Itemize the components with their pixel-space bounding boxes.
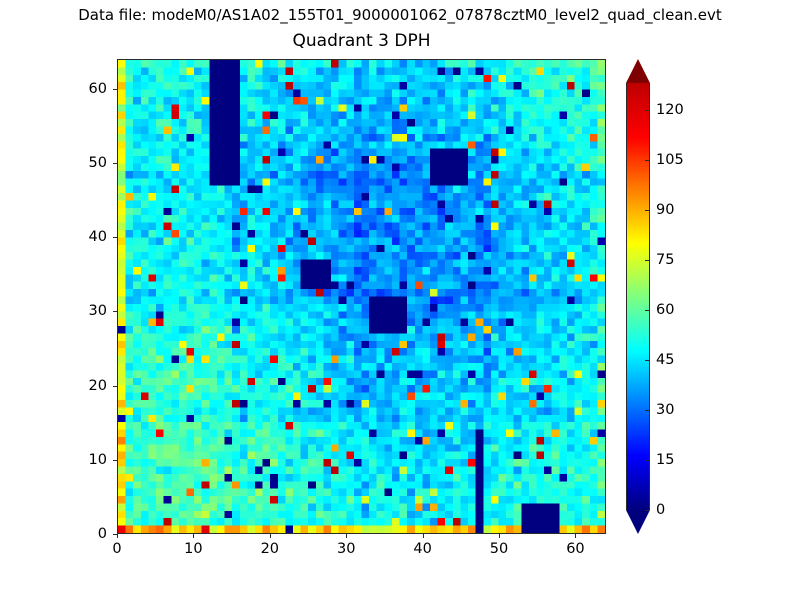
- colorbar-gradient: [627, 83, 649, 510]
- x-tick-mark: [117, 534, 118, 538]
- colorbar-tick-label: 15: [656, 452, 674, 468]
- y-tick-label: 60: [0, 81, 107, 97]
- colorbar-tick-mark: [645, 460, 649, 461]
- colorbar: [626, 59, 650, 534]
- y-tick-mark: [113, 237, 117, 238]
- colorbar-tick-mark: [645, 310, 649, 311]
- x-tick-label: 40: [413, 541, 431, 557]
- colorbar-over-arrow: [626, 59, 650, 83]
- y-tick-label: 20: [0, 378, 107, 394]
- y-tick-mark: [113, 386, 117, 387]
- x-tick-label: 30: [337, 541, 355, 557]
- x-tick-mark: [270, 534, 271, 538]
- y-tick-label: 40: [0, 229, 107, 245]
- data-file-label: Data file: modeM0/AS1A02_155T01_90000010…: [0, 6, 800, 24]
- x-tick-label: 0: [112, 541, 121, 557]
- y-tick-mark: [113, 534, 117, 535]
- x-tick-label: 10: [184, 541, 202, 557]
- matplotlib-figure: Data file: modeM0/AS1A02_155T01_90000010…: [0, 0, 800, 600]
- colorbar-tick-mark: [645, 210, 649, 211]
- y-tick-mark: [113, 311, 117, 312]
- x-tick-mark: [499, 534, 500, 538]
- colorbar-tick-label: 120: [656, 102, 684, 118]
- y-tick-mark: [113, 460, 117, 461]
- colorbar-tick-label: 45: [656, 352, 674, 368]
- colorbar-tick-label: 75: [656, 252, 674, 268]
- chart-title: Quadrant 3 DPH: [117, 31, 606, 51]
- y-tick-label: 10: [0, 452, 107, 468]
- colorbar-tick-label: 30: [656, 402, 674, 418]
- colorbar-tick-mark: [645, 160, 649, 161]
- heatmap-axes: [117, 59, 606, 534]
- colorbar-tick-mark: [645, 360, 649, 361]
- colorbar-tick-mark: [645, 410, 649, 411]
- x-tick-label: 20: [261, 541, 279, 557]
- y-tick-label: 50: [0, 155, 107, 171]
- colorbar-tick-mark: [645, 510, 649, 511]
- x-tick-mark: [193, 534, 194, 538]
- x-tick-mark: [575, 534, 576, 538]
- dph-heatmap-image: [118, 60, 605, 533]
- colorbar-tick-label: 0: [656, 502, 665, 518]
- colorbar-tick-label: 90: [656, 202, 674, 218]
- x-tick-label: 50: [490, 541, 508, 557]
- x-tick-mark: [346, 534, 347, 538]
- x-tick-label: 60: [566, 541, 584, 557]
- x-tick-mark: [423, 534, 424, 538]
- y-tick-label: 0: [0, 526, 107, 542]
- y-tick-mark: [113, 163, 117, 164]
- colorbar-body: [626, 83, 650, 510]
- colorbar-tick-label: 105: [656, 152, 684, 168]
- y-tick-label: 30: [0, 303, 107, 319]
- colorbar-tick-mark: [645, 260, 649, 261]
- colorbar-tick-label: 60: [656, 302, 674, 318]
- y-tick-mark: [113, 89, 117, 90]
- colorbar-under-arrow: [626, 510, 650, 534]
- colorbar-tick-mark: [645, 110, 649, 111]
